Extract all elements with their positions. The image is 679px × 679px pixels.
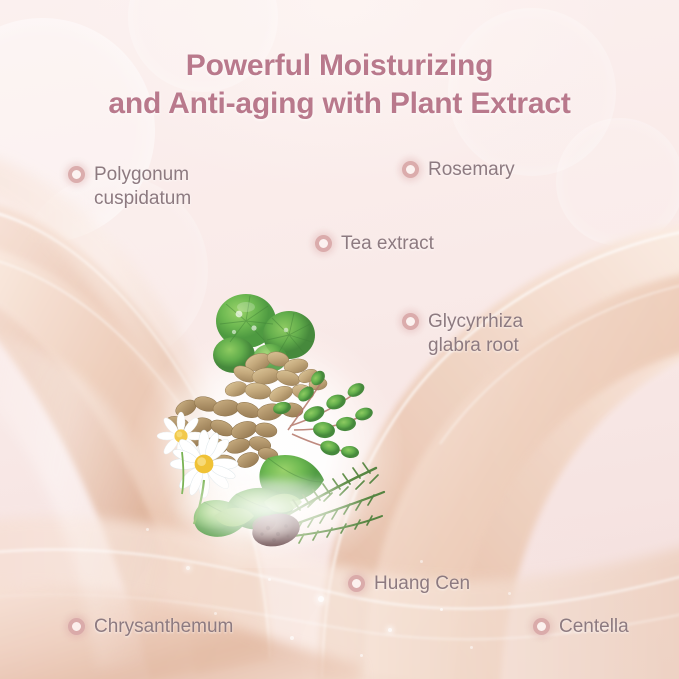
- green-leaf-cluster: [194, 455, 324, 537]
- ingredient-label-centella[interactable]: Centella: [533, 615, 629, 639]
- sparkle-particle: [318, 596, 324, 602]
- centella-leaves: [213, 294, 315, 373]
- ring-marker-icon: [68, 166, 85, 183]
- ingredient-label-rosemary[interactable]: Rosemary: [402, 158, 515, 182]
- title-line-2: and Anti-aging with Plant Extract: [0, 85, 679, 123]
- sparkle-particle: [186, 566, 190, 570]
- dark-root-nugget: [249, 509, 303, 550]
- title-line-1: Powerful Moisturizing: [186, 49, 493, 82]
- ingredient-name: Rosemary: [428, 158, 515, 182]
- sparkle-particle: [440, 608, 443, 611]
- sparkle-particle: [268, 578, 271, 581]
- sparkle-particle: [146, 528, 149, 531]
- ingredient-name: Chrysanthemum: [94, 615, 233, 639]
- ingredient-name: Polygonum cuspidatum: [94, 163, 191, 212]
- ring-marker-icon: [315, 235, 332, 252]
- ingredient-label-polygonum[interactable]: Polygonum cuspidatum: [68, 163, 191, 212]
- ingredient-label-tea-extract[interactable]: Tea extract: [315, 232, 434, 256]
- ingredient-label-glycyrrhiza[interactable]: Glycyrrhiza glabra root: [402, 310, 523, 359]
- ingredient-label-chrysanthemum[interactable]: Chrysanthemum: [68, 615, 233, 639]
- plant-extract-poster: Powerful Moisturizing and Anti-aging wit…: [0, 0, 679, 679]
- ingredient-name: Huang Cen: [374, 572, 470, 596]
- ingredient-label-huang-cen[interactable]: Huang Cen: [348, 572, 470, 596]
- botanical-collage: [118, 258, 418, 568]
- sparkle-particle: [470, 646, 473, 649]
- ingredient-name: Tea extract: [341, 232, 434, 256]
- ring-marker-icon: [533, 618, 550, 635]
- ring-marker-icon: [68, 618, 85, 635]
- page-title: Powerful Moisturizing and Anti-aging wit…: [0, 47, 679, 123]
- bokeh-circle: [556, 118, 679, 246]
- droplet-tip-glow: [225, 252, 311, 402]
- droplet-botanical-centerpiece: [118, 258, 418, 568]
- ring-marker-icon: [348, 575, 365, 592]
- ring-marker-icon: [402, 313, 419, 330]
- sparkle-particle: [508, 592, 511, 595]
- chamomile-daisy-flowers: [157, 412, 238, 524]
- droplet-base-glow: [142, 478, 394, 574]
- ring-marker-icon: [402, 161, 419, 178]
- sparkle-particle: [420, 560, 423, 563]
- droplet-glow: [118, 258, 418, 568]
- sparkle-particle: [290, 636, 294, 640]
- sparkle-particle: [388, 628, 392, 632]
- green-herb-leaves: [272, 368, 374, 459]
- sparkle-particle: [360, 654, 363, 657]
- dried-root-slices: [164, 350, 327, 470]
- ingredient-name: Centella: [559, 615, 629, 639]
- rosemary-sprigs: [286, 463, 384, 543]
- ingredient-name: Glycyrrhiza glabra root: [428, 310, 523, 359]
